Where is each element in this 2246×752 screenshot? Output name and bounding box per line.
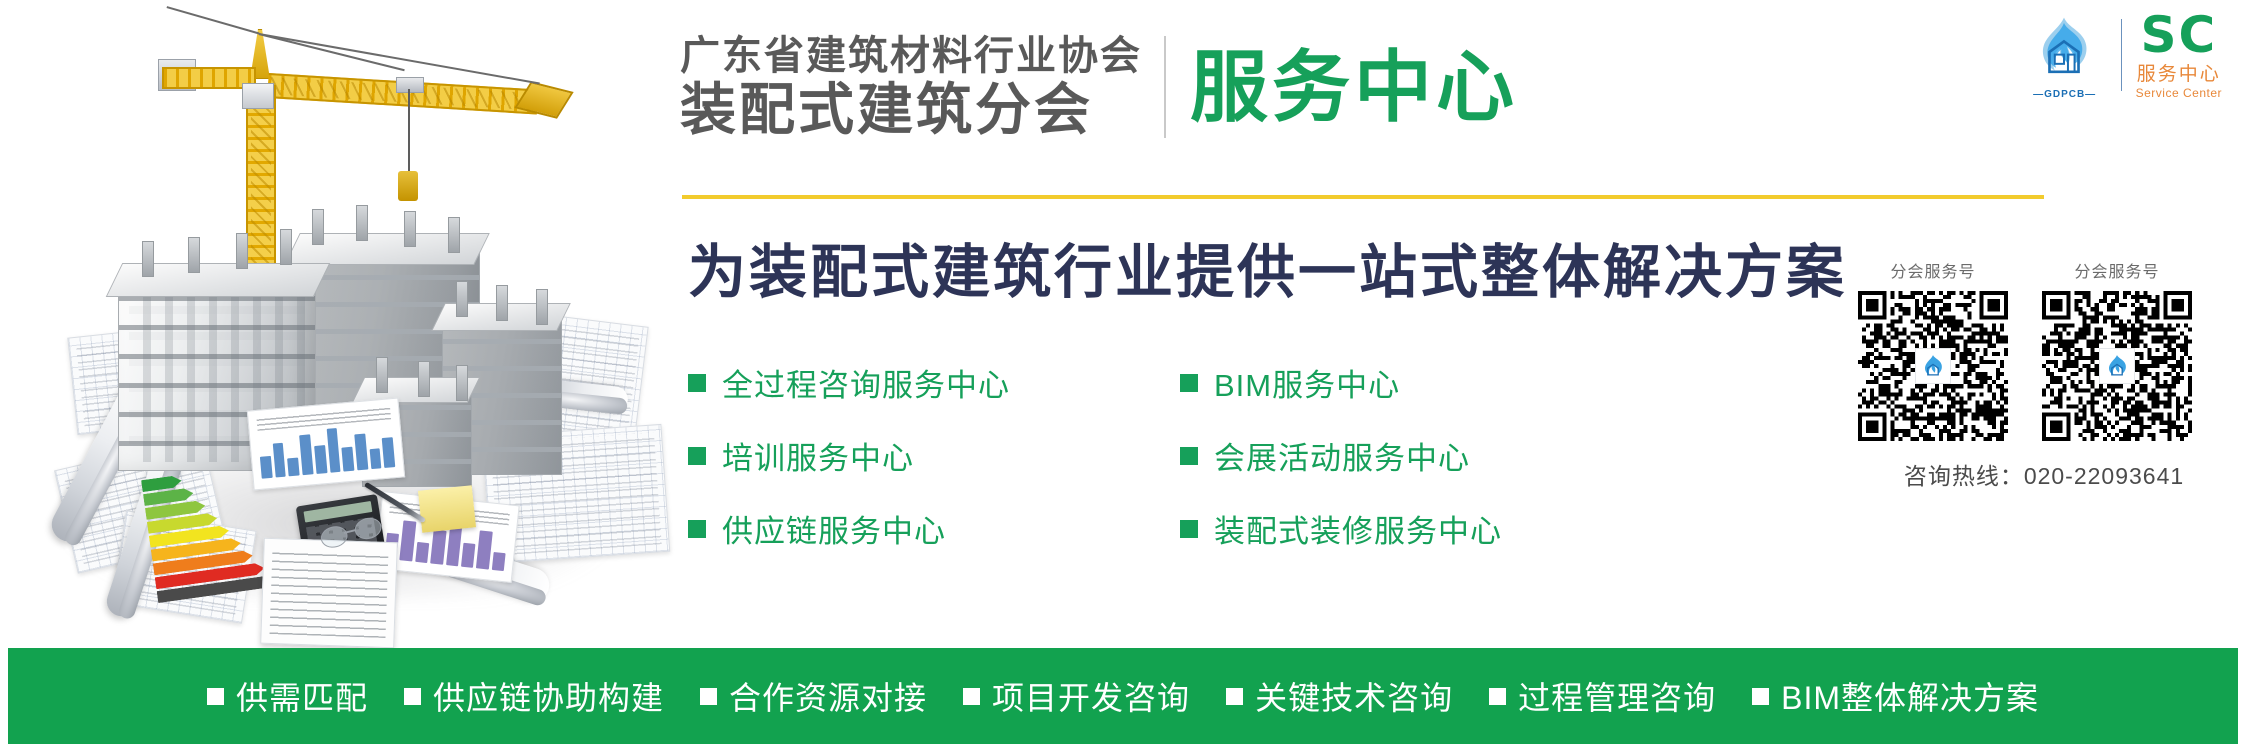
service-item-label: BIM服务中心 [1214, 360, 1400, 405]
association-name-block: 广东省建筑材料行业协会 装配式建筑分会 [680, 36, 1164, 138]
flame-house-icon [2031, 14, 2097, 82]
service-item-label: 供应链服务中心 [722, 506, 946, 551]
application-form-document [260, 538, 398, 648]
hotline-text: 咨询热线：020-22093641 [1858, 457, 2230, 491]
gdpcb-code-text: —GDPCB— [2023, 89, 2107, 100]
hero-scene [0, 0, 680, 648]
service-item[interactable]: 培训服务中心 [688, 433, 1010, 478]
roof-deck [106, 263, 331, 297]
logo-divider [2121, 19, 2122, 91]
qr-center-logo [2099, 348, 2135, 384]
sc-initials: SC [2140, 10, 2217, 60]
qr-code-cell: 分会服务号 [1858, 258, 2008, 441]
sticky-note [418, 485, 476, 532]
service-column-left: 全过程咨询服务中心 培训服务中心 供应链服务中心 [688, 360, 1010, 551]
service-item-label: 装配式装修服务中心 [1214, 506, 1502, 551]
service-item[interactable]: 会展活动服务中心 [1180, 433, 1502, 478]
header-title-row: 广东省建筑材料行业协会 装配式建筑分会 服务中心 [680, 36, 1518, 138]
footer-item-label: 供应链协助构建 [433, 673, 664, 719]
service-item[interactable]: 全过程咨询服务中心 [688, 360, 1010, 405]
qr-code-2[interactable] [2042, 291, 2192, 441]
qr-code-1[interactable] [1858, 291, 2008, 441]
footer-item-label: 过程管理咨询 [1518, 673, 1716, 719]
main-slogan: 为装配式建筑行业提供一站式整体解决方案 [688, 225, 1847, 309]
service-column-right: BIM服务中心 会展活动服务中心 装配式装修服务中心 [1180, 360, 1502, 551]
service-item-label: 会展活动服务中心 [1214, 433, 1470, 478]
bullet-square-icon [1226, 688, 1243, 705]
qr-center-logo [1915, 348, 1951, 384]
bullet-square-icon [207, 688, 224, 705]
footer-item-label: BIM整体解决方案 [1781, 673, 2039, 719]
qr-caption: 分会服务号 [2074, 258, 2159, 282]
bullet-square-icon [1180, 447, 1198, 465]
footer-item-label: 合作资源对接 [729, 673, 927, 719]
service-item[interactable]: 装配式装修服务中心 [1180, 506, 1502, 551]
footer-item[interactable]: BIM整体解决方案 [1734, 673, 2057, 719]
footer-item[interactable]: 关键技术咨询 [1208, 673, 1471, 719]
bullet-square-icon [1180, 520, 1198, 538]
logo-lockup: —GDPCB— SC 服务中心 Service Center [2023, 10, 2222, 99]
flame-house-icon [1920, 353, 1946, 379]
association-name-line2: 装配式建筑分会 [680, 82, 1142, 138]
bullet-square-icon [688, 374, 706, 392]
service-item[interactable]: BIM服务中心 [1180, 360, 1502, 405]
flame-house-icon [2104, 353, 2130, 379]
construction-site-illustration [0, 0, 680, 648]
footer-keyword-bar: 供需匹配 供应链协助构建 合作资源对接 项目开发咨询 关键技术咨询 过程管理咨询… [8, 648, 2238, 744]
bullet-square-icon [404, 688, 421, 705]
service-center-heading: 服务中心 [1190, 48, 1518, 126]
bullet-square-icon [963, 688, 980, 705]
sc-logo-block: SC 服务中心 Service Center [2136, 10, 2222, 99]
service-item[interactable]: 供应链服务中心 [688, 506, 1010, 551]
banner-content: —GDPCB— SC 服务中心 Service Center 广东省建筑材料行业… [680, 0, 2246, 648]
service-center-list: 全过程咨询服务中心 培训服务中心 供应链服务中心 BIM服务中心 [688, 360, 1502, 551]
bullet-square-icon [1180, 374, 1198, 392]
bullet-square-icon [1489, 688, 1506, 705]
qr-code-cell: 分会服务号 [2042, 258, 2192, 441]
footer-item[interactable]: 供应链协助构建 [386, 673, 682, 719]
qr-code-zone: 分会服务号 分会服务号 [1858, 258, 2230, 491]
footer-item-label: 供需匹配 [236, 673, 368, 719]
qr-caption: 分会服务号 [1890, 258, 1975, 282]
yellow-divider-rule [682, 195, 2044, 199]
footer-item-label: 项目开发咨询 [992, 673, 1190, 719]
bullet-square-icon [688, 520, 706, 538]
footer-item[interactable]: 项目开发咨询 [945, 673, 1208, 719]
gdpcb-logo-mark: —GDPCB— [2023, 12, 2107, 98]
bullet-square-icon [700, 688, 717, 705]
footer-item-label: 关键技术咨询 [1255, 673, 1453, 719]
sc-chinese-label: 服务中心 [2137, 65, 2221, 84]
service-item-label: 全过程咨询服务中心 [722, 360, 1010, 405]
promotional-banner: —GDPCB— SC 服务中心 Service Center 广东省建筑材料行业… [0, 0, 2246, 752]
footer-item[interactable]: 供需匹配 [189, 673, 386, 719]
bullet-square-icon [688, 447, 706, 465]
service-item-label: 培训服务中心 [722, 433, 914, 478]
footer-item[interactable]: 过程管理咨询 [1471, 673, 1734, 719]
bullet-square-icon [1752, 688, 1769, 705]
footer-item[interactable]: 合作资源对接 [682, 673, 945, 719]
title-divider [1164, 36, 1166, 138]
sc-english-label: Service Center [2136, 87, 2222, 99]
association-name-line1: 广东省建筑材料行业协会 [680, 36, 1142, 76]
qr-code-row: 分会服务号 分会服务号 [1858, 258, 2230, 441]
